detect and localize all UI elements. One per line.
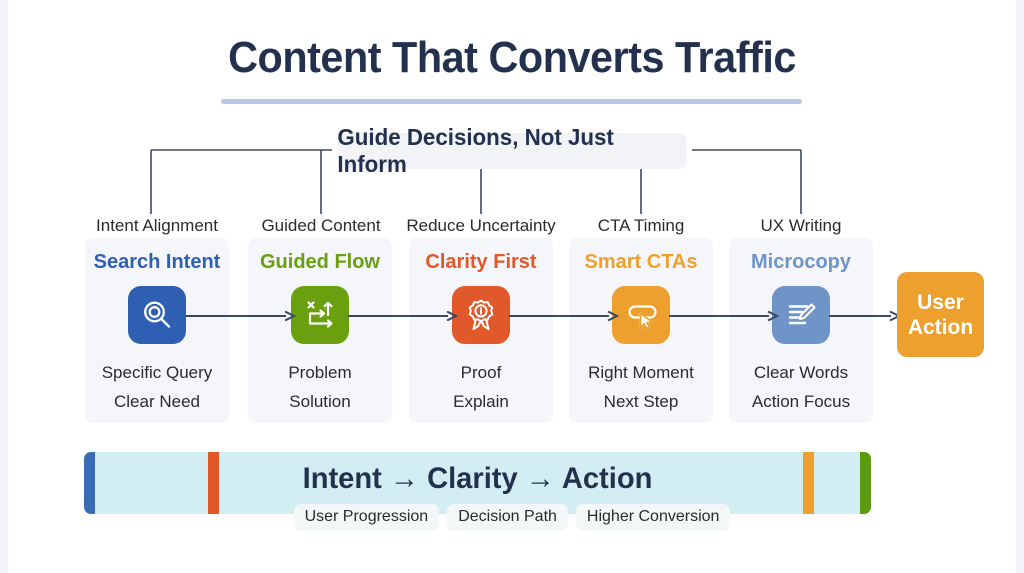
card-line-2: Action Focus	[729, 387, 873, 416]
card-microcopy[interactable]: Microcopy Clear Words Action Focus	[729, 238, 873, 423]
card-line-1: Problem	[248, 358, 392, 387]
edit-lines-pencil-icon	[772, 286, 830, 344]
card-title: Smart CTAs	[569, 251, 713, 274]
flow-arrow-1	[186, 311, 296, 321]
column-label-3: Reduce Uncertainty	[396, 216, 566, 236]
reroute-arrows-icon	[291, 286, 349, 344]
card-detail-lines: Problem Solution	[248, 358, 392, 416]
column-label-4: CTA Timing	[556, 216, 726, 236]
flow-arrow-3	[509, 311, 619, 321]
column-label-2: Guided Content	[236, 216, 406, 236]
card-line-2: Explain	[409, 387, 553, 416]
magnifier-icon	[128, 286, 186, 344]
card-line-1: Proof	[409, 358, 553, 387]
card-guided-flow[interactable]: Guided Flow Problem Solution	[248, 238, 392, 423]
card-title: Guided Flow	[248, 251, 392, 274]
tag-decision-path[interactable]: Decision Path	[447, 504, 568, 531]
card-title: Microcopy	[729, 251, 873, 274]
card-line-1: Clear Words	[729, 358, 873, 387]
column-label-1: Intent Alignment	[72, 216, 242, 236]
user-action-line-2: Action	[908, 315, 973, 340]
slide-canvas: Content That Converts Traffic Guide Deci…	[0, 0, 1024, 573]
card-line-2: Clear Need	[85, 387, 229, 416]
user-action-line-1: User	[908, 290, 973, 315]
card-detail-lines: Right Moment Next Step	[569, 358, 713, 416]
title-underline-rule	[221, 99, 802, 104]
page-edge-left	[0, 0, 8, 573]
card-clarity-first[interactable]: Clarity First Proof Explain	[409, 238, 553, 423]
card-detail-lines: Clear Words Action Focus	[729, 358, 873, 416]
card-title: Search Intent	[85, 251, 229, 274]
center-banner-label: Guide Decisions, Not Just Inform	[337, 124, 686, 178]
page-title: Content That Converts Traffic	[31, 34, 994, 82]
card-line-1: Specific Query	[85, 358, 229, 387]
flow-arrow-5	[829, 311, 901, 321]
button-cursor-icon	[612, 286, 670, 344]
flow-arrow-2	[348, 311, 458, 321]
user-action-block[interactable]: User Action	[897, 272, 984, 357]
summary-banner-text: Intent → Clarity → Action	[96, 462, 859, 496]
tag-higher-conversion[interactable]: Higher Conversion	[576, 504, 731, 531]
card-line-2: Next Step	[569, 387, 713, 416]
card-search-intent[interactable]: Search Intent Specific Query Clear Need	[85, 238, 229, 423]
card-detail-lines: Specific Query Clear Need	[85, 358, 229, 416]
page-edge-right	[1016, 0, 1024, 573]
tag-user-progression[interactable]: User Progression	[294, 504, 440, 531]
card-title: Clarity First	[409, 251, 553, 274]
card-detail-lines: Proof Explain	[409, 358, 553, 416]
card-line-2: Solution	[248, 387, 392, 416]
card-smart-ctas[interactable]: Smart CTAs Right Moment Next Step	[569, 238, 713, 423]
card-line-1: Right Moment	[569, 358, 713, 387]
center-banner: Guide Decisions, Not Just Inform	[337, 133, 686, 169]
column-label-5: UX Writing	[716, 216, 886, 236]
summary-tag-row: User Progression Decision Path Higher Co…	[0, 504, 1024, 531]
flow-arrow-4	[669, 311, 779, 321]
award-info-icon	[452, 286, 510, 344]
